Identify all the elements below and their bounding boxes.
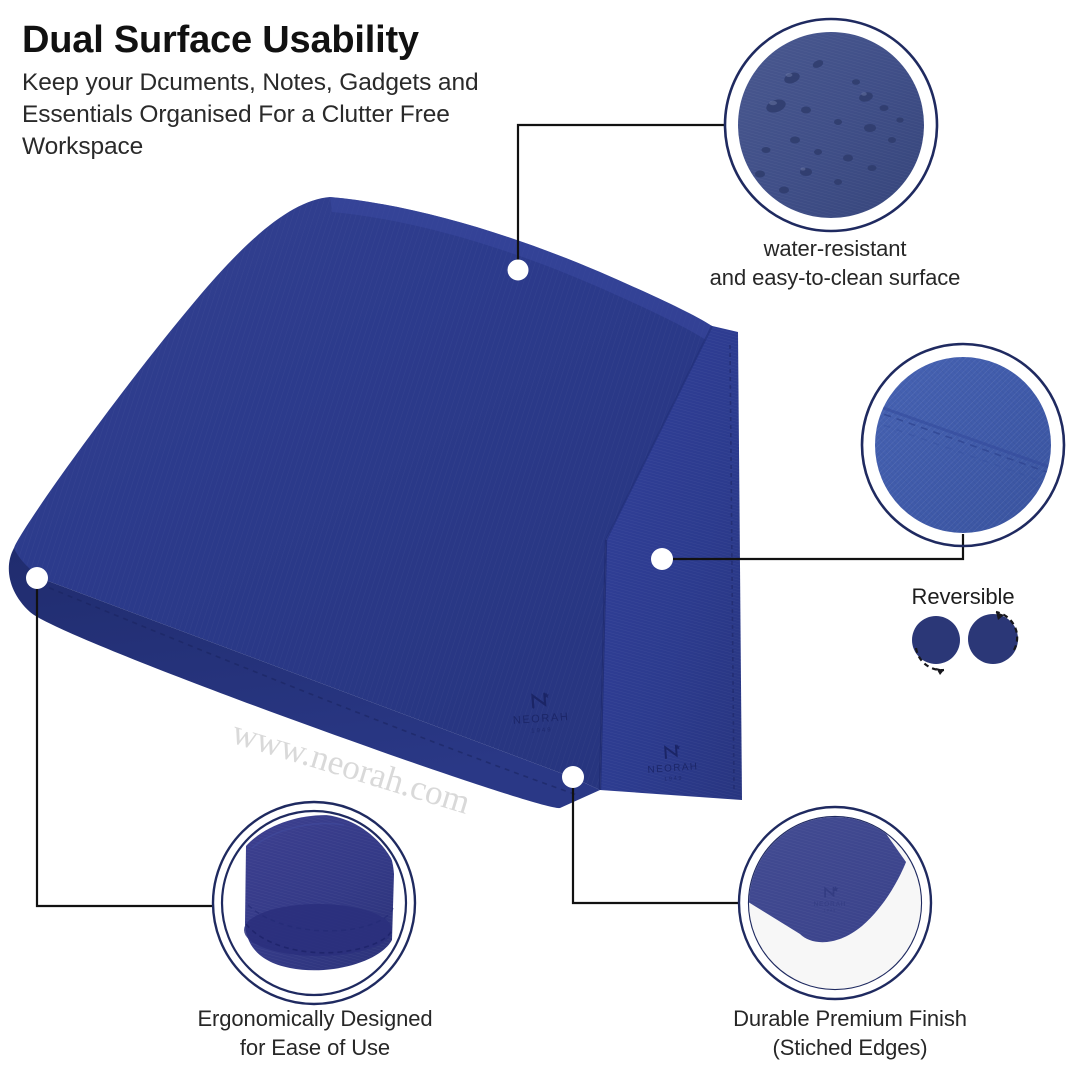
product-illustration: NEORAH 1949 NEORAH 1949 www.neorah.com [0,0,1080,1080]
water-droplets-icon [730,24,935,229]
anchor-dot-water[interactable] [508,260,528,280]
callout-circle-durable[interactable]: NEORAH 1949 [739,807,931,999]
callout-circle-ergonomic[interactable] [213,802,415,1004]
svg-text:1949: 1949 [824,909,837,913]
rolled-mat-icon [225,814,403,992]
caption-water-resistant: water-resistant and easy-to-clean surfac… [660,234,1010,293]
caption-reversible: Reversible [856,584,1070,610]
anchor-dot-reversible[interactable] [651,548,673,570]
anchor-dot-ergonomic[interactable] [26,567,48,589]
infographic-canvas: Dual Surface Usability Keep your Dcument… [0,0,1080,1080]
reversible-rotation-icon [912,612,1018,675]
caption-durable: Durable Premium Finish (Stiched Edges) [650,1004,1050,1063]
caption-ergonomic: Ergonomically Designed for Ease of Use [135,1004,495,1063]
callout-circle-reversible[interactable] [862,344,1064,546]
desk-mat-graphic: NEORAH 1949 NEORAH 1949 [9,197,742,808]
anchor-dot-durable[interactable] [562,766,584,788]
callout-circle-water-resistant[interactable] [725,19,937,231]
svg-text:NEORAH: NEORAH [814,901,847,908]
stitched-seam-icon [872,355,1058,537]
